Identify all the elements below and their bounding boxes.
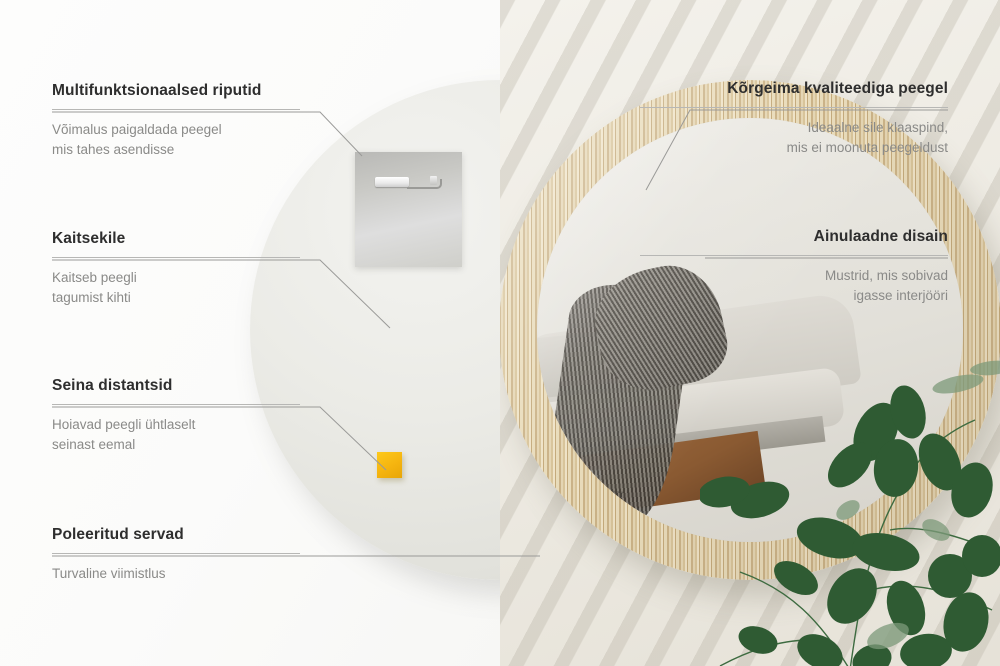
callout-description: Ideaalne sile klaaspind, mis ei moonuta … bbox=[640, 118, 948, 157]
hanger-tip bbox=[430, 176, 437, 185]
callout-multifunktsionaalsed-riputid: Multifunktsionaalsed riputid Võimalus pa… bbox=[52, 82, 300, 159]
infographic-canvas: Multifunktsionaalsed riputid Võimalus pa… bbox=[0, 0, 1000, 666]
wall-spacer-block bbox=[377, 452, 402, 478]
callout-seina-distantsid: Seina distantsid Hoiavad peegli ühtlasel… bbox=[52, 377, 300, 454]
callout-title: Ainulaadne disain bbox=[640, 228, 948, 246]
callout-kaitsekile: Kaitsekile Kaitseb peegli tagumist kihti bbox=[52, 230, 300, 307]
callout-rule bbox=[52, 404, 300, 405]
callout-poleeritud-servad: Poleeritud servad Turvaline viimistlus bbox=[52, 526, 300, 584]
callout-rule bbox=[52, 553, 300, 554]
callout-description: Turvaline viimistlus bbox=[52, 564, 300, 584]
callout-description: Võimalus paigaldada peegel mis tahes ase… bbox=[52, 120, 300, 159]
hanger-bar bbox=[375, 177, 409, 187]
callout-rule bbox=[640, 107, 948, 108]
reflection-blanket-fringe bbox=[549, 484, 624, 541]
callout-title: Kõrgeima kvaliteediga peegel bbox=[640, 80, 948, 98]
callout-rule bbox=[52, 257, 300, 258]
callout-title: Poleeritud servad bbox=[52, 526, 300, 544]
callout-description: Kaitseb peegli tagumist kihti bbox=[52, 268, 300, 307]
callout-korgeima-kvaliteediga-peegel: Kõrgeima kvaliteediga peegel Ideaalne si… bbox=[640, 80, 948, 157]
hanger-plate bbox=[355, 152, 462, 267]
callout-rule bbox=[640, 255, 948, 256]
callout-ainulaadne-disain: Ainulaadne disain Mustrid, mis sobivad i… bbox=[640, 228, 948, 305]
callout-title: Kaitsekile bbox=[52, 230, 300, 248]
reflection-sofa-arm bbox=[537, 328, 642, 400]
callout-title: Multifunktsionaalsed riputid bbox=[52, 82, 300, 100]
callout-rule bbox=[52, 109, 300, 110]
callout-description: Hoiavad peegli ühtlaselt seinast eemal bbox=[52, 415, 300, 454]
foliage-icon bbox=[700, 340, 1000, 666]
hanger-clip-icon bbox=[375, 176, 443, 189]
callout-description: Mustrid, mis sobivad igasse interjööri bbox=[640, 266, 948, 305]
callout-title: Seina distantsid bbox=[52, 377, 300, 395]
